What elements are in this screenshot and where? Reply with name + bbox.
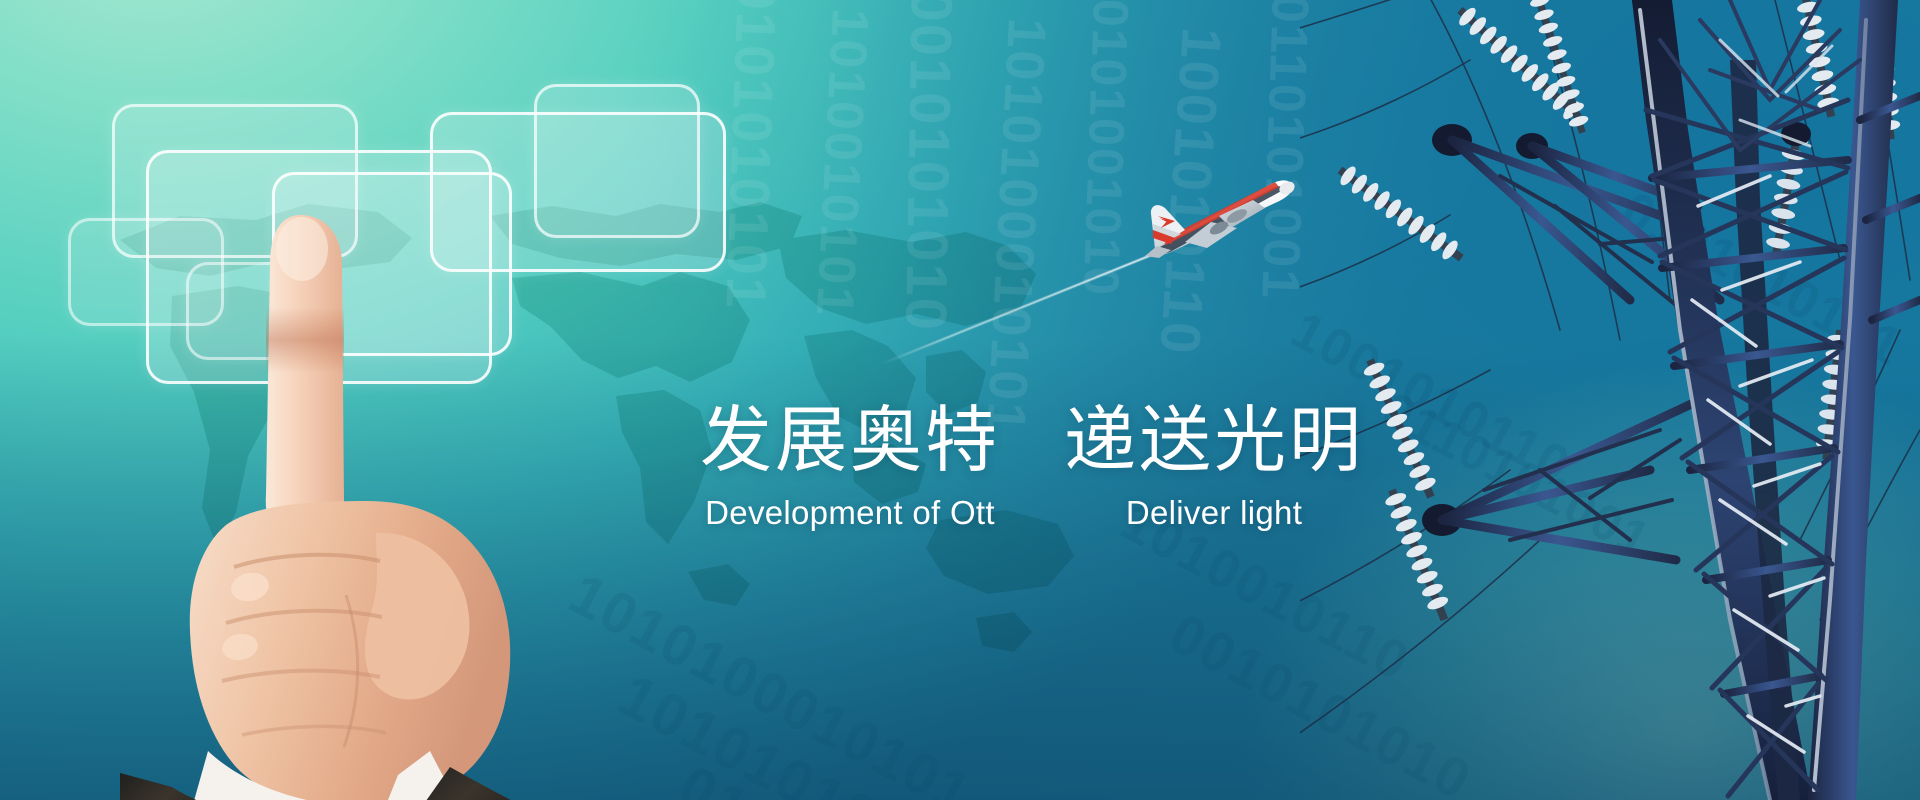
- headline-chinese-2: 递送光明: [1064, 405, 1364, 478]
- headline-english-2: Deliver light: [1064, 488, 1364, 538]
- pointing-hand: [130, 195, 560, 800]
- banner-root: 0101010101 1010010101 0010101010 1010100…: [0, 0, 1920, 800]
- headline-chinese-1: 发展奥特: [700, 405, 1000, 478]
- headline-block: 发展奥特 Development of Ott 递送光明 Deliver lig…: [700, 405, 1440, 538]
- airplane-icon: [1145, 168, 1295, 260]
- headline-row: 发展奥特 Development of Ott 递送光明 Deliver lig…: [700, 405, 1440, 538]
- transmission-tower: [1300, 0, 1920, 800]
- headline-phrase-1: 发展奥特 Development of Ott: [700, 405, 1000, 538]
- headline-english-1: Development of Ott: [700, 488, 1000, 538]
- headline-phrase-2: 递送光明 Deliver light: [1064, 405, 1364, 538]
